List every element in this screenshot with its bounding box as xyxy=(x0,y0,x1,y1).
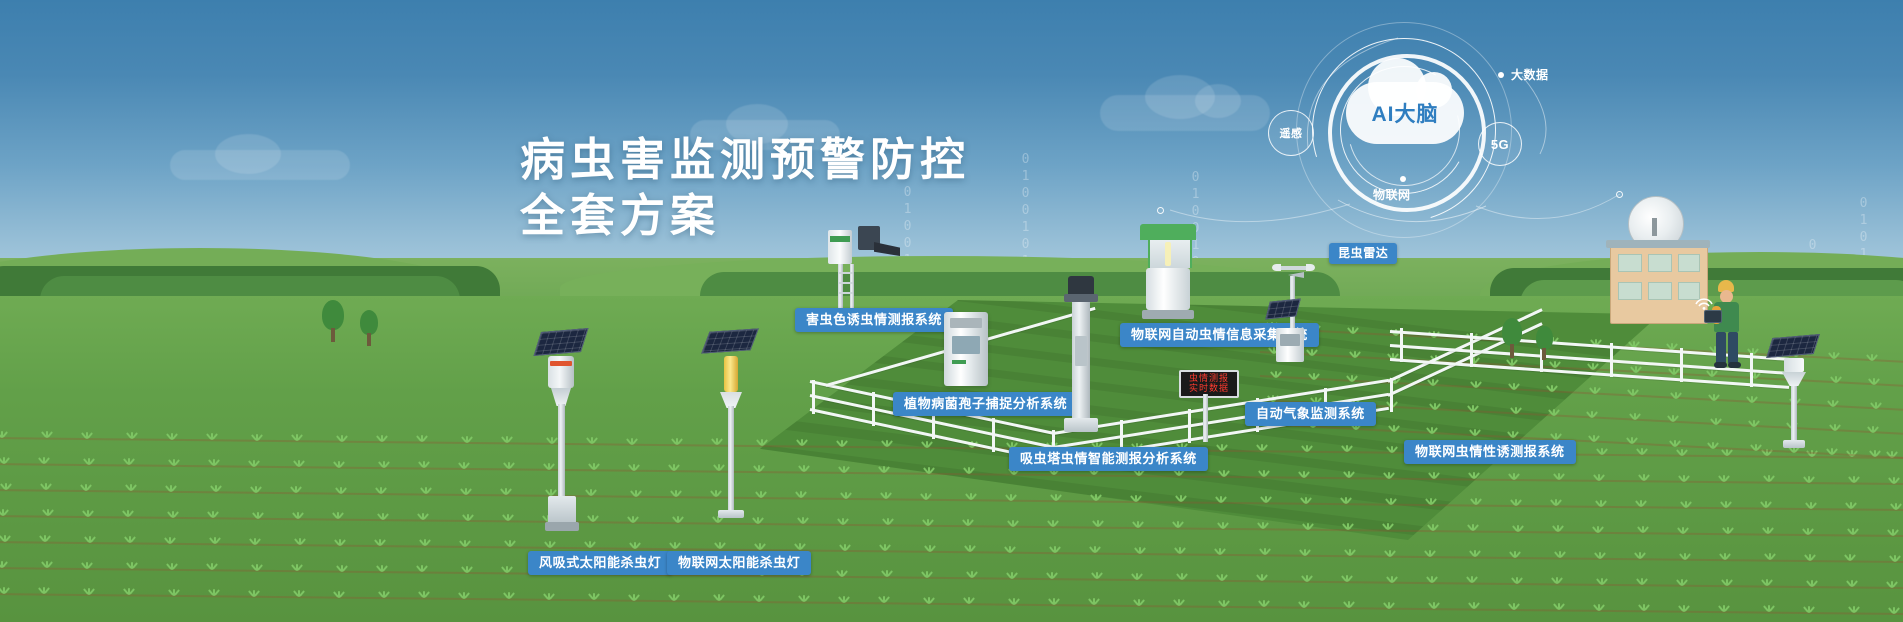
crop-plant xyxy=(0,456,9,465)
pheromone-trap-funnel xyxy=(1782,372,1806,386)
lamp-pole xyxy=(728,406,734,514)
ai-node-remote-sensing[interactable]: 遥感 xyxy=(1268,110,1314,156)
crop-plant xyxy=(1872,401,1881,410)
crop-plant xyxy=(1343,574,1352,583)
ladder-rung xyxy=(839,282,853,284)
crop-plant xyxy=(1762,500,1771,509)
crop-plant xyxy=(250,589,259,598)
crop-plant xyxy=(796,542,805,551)
crop-plant xyxy=(1832,375,1841,384)
crop-plant xyxy=(1512,406,1521,415)
crop-plant xyxy=(673,437,682,446)
crop-plant xyxy=(1,534,10,543)
crop-plant xyxy=(1344,522,1353,531)
pheromone-trap-base xyxy=(1783,440,1805,448)
solar-panel xyxy=(701,328,759,353)
crop-plant xyxy=(1216,547,1225,556)
crop-plant xyxy=(1300,600,1309,609)
collector-lamp-tube xyxy=(1165,242,1171,266)
crop-plant xyxy=(1764,526,1773,535)
crop-plant xyxy=(1219,521,1228,530)
crop-plant xyxy=(1550,408,1559,417)
crop-plant xyxy=(41,534,50,543)
crop-plant xyxy=(208,562,217,571)
crop-plant xyxy=(378,434,387,443)
crop-plant xyxy=(1590,434,1599,443)
crop-plant xyxy=(463,565,472,574)
crop-plant xyxy=(379,512,388,521)
anemometer-cup-right xyxy=(1306,264,1315,271)
crop-plant xyxy=(1304,522,1313,531)
crop-plant xyxy=(212,484,221,493)
cloud-decoration xyxy=(215,134,281,174)
crop-plant xyxy=(169,510,178,519)
crop-plant xyxy=(83,431,92,440)
crop-plant xyxy=(253,563,262,572)
crop-plant xyxy=(630,463,639,472)
crop-plant xyxy=(1681,552,1690,561)
crop-plant xyxy=(1262,495,1271,504)
crop-plant xyxy=(1850,605,1859,614)
crop-plant xyxy=(1637,499,1646,508)
solar-panel xyxy=(1265,298,1301,319)
crop-plant xyxy=(1870,377,1879,386)
crop-plant xyxy=(1846,553,1855,562)
crop-plant xyxy=(672,489,681,498)
farmer-leg-right xyxy=(1728,332,1738,364)
crop-plant xyxy=(1712,417,1721,426)
crop-plant xyxy=(338,434,347,443)
building-window xyxy=(1618,254,1642,272)
crop-plant xyxy=(1849,527,1858,536)
crop-plant xyxy=(1092,493,1101,502)
crop-plant xyxy=(377,486,386,495)
crop-plant xyxy=(1388,575,1397,584)
crop-plant xyxy=(1220,599,1229,608)
crop-plant xyxy=(674,515,683,524)
farmer-shoe-right xyxy=(1728,362,1741,368)
crop-plant xyxy=(505,461,514,470)
crop-plant xyxy=(1831,423,1840,432)
crop-plant xyxy=(925,596,934,605)
spore-cabinet-screen xyxy=(952,336,980,354)
ai-brain-label: AI大脑 xyxy=(1346,98,1464,128)
lamp-pole xyxy=(558,404,565,508)
crop-plant xyxy=(210,588,219,597)
crop-plant xyxy=(590,592,599,601)
crop-plant xyxy=(208,432,217,441)
crop-plant xyxy=(0,430,7,439)
crop-plant xyxy=(502,487,511,496)
wifi-icon xyxy=(1694,294,1714,310)
crop-plant xyxy=(1891,554,1900,563)
crop-plant xyxy=(1007,493,1016,502)
crop-plant xyxy=(1091,545,1100,554)
crop-plant xyxy=(923,570,932,579)
tree xyxy=(1502,318,1522,358)
crop-plant xyxy=(1721,552,1730,561)
crop-plant xyxy=(338,564,347,573)
led-line-2: 实时数据 xyxy=(1189,384,1229,394)
lamp-indicator xyxy=(550,361,572,366)
crop-plant xyxy=(1555,602,1564,611)
crop-plant xyxy=(376,538,385,547)
crop-plant xyxy=(798,438,807,447)
crop-plant xyxy=(1765,604,1774,613)
device-label-iot-pheromone-lure-forecast[interactable]: 物联网虫情性诱测报系统 xyxy=(1404,440,1576,464)
building-window xyxy=(1618,282,1642,300)
crop-plant xyxy=(422,486,431,495)
crop-plant xyxy=(1752,443,1761,452)
weather-cabinet-grill xyxy=(1280,334,1300,346)
device-color-lure-pest-forecast[interactable] xyxy=(820,222,910,312)
crop-plant xyxy=(85,457,94,466)
radar-dish-feed xyxy=(1652,218,1657,236)
collector-base xyxy=(1142,310,1194,319)
crop-plant xyxy=(0,586,9,595)
crop-plant xyxy=(461,539,470,548)
crop-plant xyxy=(292,485,301,494)
crop-plant xyxy=(1472,497,1481,506)
spore-cabinet-logo xyxy=(952,360,966,364)
crop-plant xyxy=(800,594,809,603)
suction-tower-access-panel xyxy=(1075,336,1087,366)
crop-plant xyxy=(1470,601,1479,610)
crop-plant xyxy=(1345,600,1354,609)
crop-plant xyxy=(168,562,177,571)
device-label-insect-radar[interactable]: 昆虫雷达 xyxy=(1329,243,1397,264)
crop-plant xyxy=(210,458,219,467)
device-suction-tower-pest-forecast[interactable] xyxy=(1058,276,1104,452)
crop-plant xyxy=(128,561,137,570)
crop-plant xyxy=(1132,494,1141,503)
crop-plant xyxy=(418,564,427,573)
crop-plant xyxy=(43,560,52,569)
crop-plant xyxy=(1301,548,1310,557)
crop-plant xyxy=(1302,496,1311,505)
crop-plant xyxy=(1709,441,1718,450)
infographic-banner: 010010010 0100101101 01001011010 0101101… xyxy=(0,0,1903,622)
crop-plant xyxy=(1763,578,1772,587)
led-line-1: 虫情测报 xyxy=(1189,374,1229,384)
ai-node-iot-dot xyxy=(1400,176,1406,182)
crop-plant xyxy=(251,537,260,546)
crop-plant xyxy=(1889,528,1898,537)
crop-plant xyxy=(545,592,554,601)
crop-plant xyxy=(254,511,263,520)
device-label-color-lure-pest-forecast[interactable]: 害虫色诱虫情测报系统 xyxy=(795,308,953,332)
crop-plant xyxy=(1385,601,1394,610)
crop-plant xyxy=(420,460,429,469)
soil-row xyxy=(0,567,1903,589)
ai-arc-endpoint-left xyxy=(1157,207,1164,214)
crop-plant xyxy=(335,590,344,599)
crop-plant xyxy=(1261,547,1270,556)
crop-plant xyxy=(1048,571,1057,580)
crop-plant xyxy=(1133,572,1142,581)
crop-plant xyxy=(841,543,850,552)
crop-plant xyxy=(965,596,974,605)
device-iot-auto-pest-info-collection[interactable] xyxy=(1138,224,1208,324)
crop-plant xyxy=(82,483,91,492)
ladder-rung xyxy=(839,272,853,274)
crop-plant xyxy=(1512,498,1521,507)
crop-plant xyxy=(1009,519,1018,528)
crop-plant xyxy=(1682,500,1691,509)
crop-plant xyxy=(670,593,679,602)
crop-plant xyxy=(460,591,469,600)
crop-plant xyxy=(1387,497,1396,506)
crop-plant xyxy=(293,563,302,572)
solar-panel xyxy=(533,328,588,356)
crop-plant xyxy=(1554,524,1563,533)
crop-plant xyxy=(1217,495,1226,504)
mounting-pole-secondary xyxy=(850,264,854,310)
crop-plant xyxy=(0,560,7,569)
crop-plant xyxy=(1426,549,1435,558)
crop-plant xyxy=(506,539,515,548)
crop-plant xyxy=(2,482,11,491)
solar-panel xyxy=(1766,334,1820,358)
crop-plant xyxy=(334,511,343,520)
crop-plant xyxy=(1513,576,1522,585)
crop-plant xyxy=(1848,579,1857,588)
ai-node-bigdata-dot xyxy=(1498,72,1504,78)
crop-plant xyxy=(168,432,177,441)
building-window xyxy=(1648,282,1672,300)
crop-plant xyxy=(1258,573,1267,582)
crop-plant xyxy=(1723,578,1732,587)
crop-plant xyxy=(209,510,218,519)
crop-plant xyxy=(1720,604,1729,613)
crop-plant xyxy=(1471,549,1480,558)
crop-plant xyxy=(755,594,764,603)
crop-plant xyxy=(44,508,53,517)
device-auto-weather-monitor[interactable] xyxy=(1262,266,1326,376)
crop-plant xyxy=(1679,526,1688,535)
crop-plant xyxy=(799,516,808,525)
ladder-rung xyxy=(839,292,853,294)
crop-plant xyxy=(1804,527,1813,536)
crop-plant xyxy=(170,588,179,597)
crop-plant xyxy=(463,435,472,444)
farmer-with-tablet xyxy=(1700,280,1756,368)
pheromone-trap-pole xyxy=(1791,386,1797,442)
crop-plant xyxy=(505,591,514,600)
crop-plant xyxy=(1136,546,1145,555)
crop-plant xyxy=(335,460,344,469)
device-label-wind-suction-solar-insect-lamp[interactable]: 风吸式太阳能杀虫灯 xyxy=(528,551,672,575)
crop-plant xyxy=(1303,574,1312,583)
suction-tower-base xyxy=(1064,418,1098,432)
farmer-shoe-left xyxy=(1714,362,1727,368)
crop-plant xyxy=(1806,553,1815,562)
lamp-collector-box xyxy=(548,496,576,524)
ai-node-iot[interactable]: 物联网 xyxy=(1373,186,1411,203)
crop-plant xyxy=(1094,519,1103,528)
crop-plant xyxy=(1829,399,1838,408)
crop-plant xyxy=(167,484,176,493)
device-label-auto-weather-monitor[interactable]: 自动气象监测系统 xyxy=(1245,402,1376,426)
collector-canopy xyxy=(1140,224,1196,240)
crop-plant xyxy=(1724,526,1733,535)
crop-plant xyxy=(1174,520,1183,529)
crop-plant xyxy=(419,512,428,521)
crop-plant xyxy=(840,595,849,604)
crop-plant xyxy=(1511,550,1520,559)
lamp-tube-housing xyxy=(724,356,738,392)
crop-plant xyxy=(630,593,639,602)
crop-plant xyxy=(1135,598,1144,607)
crop-plant xyxy=(1638,577,1647,586)
device-label-plant-spore-capture-analysis[interactable]: 植物病菌孢子捕捉分析系统 xyxy=(893,392,1078,416)
crop-plant xyxy=(503,565,512,574)
device-label-suction-tower-pest-forecast[interactable]: 吸虫塔虫情智能测报分析系统 xyxy=(1009,447,1208,471)
crop-plant xyxy=(1766,552,1775,561)
crop-plant xyxy=(1669,414,1678,423)
crop-plant xyxy=(253,433,262,442)
led-display-board[interactable]: 虫情测报 实时数据 xyxy=(1179,370,1239,398)
soil-row xyxy=(0,541,1903,563)
crop-plant xyxy=(1510,602,1519,611)
soil-row xyxy=(0,593,1903,615)
crop-plant xyxy=(966,544,975,553)
device-label-iot-solar-insect-lamp[interactable]: 物联网太阳能杀虫灯 xyxy=(667,551,811,575)
lamp-base xyxy=(718,510,744,518)
crop-plant xyxy=(295,589,304,598)
hero-title-line-1: 病虫害监测预警防控 xyxy=(520,132,970,188)
crop-plant xyxy=(380,460,389,469)
crop-plant xyxy=(1678,578,1687,587)
crop-plant xyxy=(1828,447,1837,456)
anemometer-cup-left xyxy=(1272,264,1281,271)
crop-plant xyxy=(86,535,95,544)
crop-plant xyxy=(1342,496,1351,505)
tree xyxy=(360,310,378,346)
crop-plant xyxy=(632,489,641,498)
crop-plant xyxy=(882,491,891,500)
crop-plant xyxy=(1218,573,1227,582)
crop-plant xyxy=(1890,606,1899,615)
crop-plant xyxy=(800,464,809,473)
crop-plant xyxy=(1680,604,1689,613)
crop-plant xyxy=(1052,493,1061,502)
device-plant-spore-capture-analysis[interactable] xyxy=(944,312,1004,394)
crop-plant xyxy=(1553,576,1562,585)
suction-tower-head xyxy=(1068,276,1094,296)
crop-plant xyxy=(0,508,8,517)
crop-plant xyxy=(968,570,977,579)
crop-plant xyxy=(1631,412,1640,421)
crop-plant xyxy=(166,536,175,545)
crop-plant xyxy=(1175,598,1184,607)
device-wind-suction-solar-insect-lamp[interactable] xyxy=(532,328,592,543)
lure-trap-green-stripe xyxy=(830,236,850,242)
crop-plant xyxy=(1871,449,1880,458)
crop-plant xyxy=(1628,436,1637,445)
crop-plant xyxy=(418,434,427,443)
crop-plant xyxy=(1093,571,1102,580)
crop-plant xyxy=(880,595,889,604)
crop-plant xyxy=(1429,523,1438,532)
crop-plant xyxy=(671,541,680,550)
crop-plant xyxy=(964,518,973,527)
crop-plant xyxy=(883,569,892,578)
crop-plant xyxy=(1830,351,1839,360)
crop-plant xyxy=(421,538,430,547)
crop-plant xyxy=(170,458,179,467)
crop-plant xyxy=(922,492,931,501)
crop-plant xyxy=(1552,498,1561,507)
crop-plant xyxy=(296,537,305,546)
crop-plant xyxy=(1594,525,1603,534)
pheromone-trap-head xyxy=(1784,358,1804,372)
crop-plant xyxy=(1588,410,1597,419)
led-board-pole xyxy=(1203,394,1208,442)
ai-node-5g[interactable]: 5G xyxy=(1478,122,1522,166)
crop-plant xyxy=(40,586,49,595)
crop-plant xyxy=(1386,549,1395,558)
crop-plant xyxy=(839,517,848,526)
crop-plant xyxy=(1468,575,1477,584)
crop-plant xyxy=(1750,419,1759,428)
crop-plant xyxy=(1595,603,1604,612)
tree xyxy=(1536,326,1553,360)
crop-plant xyxy=(1805,605,1814,614)
crop-plant xyxy=(1596,551,1605,560)
crop-plant xyxy=(252,485,261,494)
crop-plant xyxy=(1090,597,1099,606)
crop-plant xyxy=(670,463,679,472)
ai-node-5g-label: 5G xyxy=(1491,137,1509,152)
soil-row xyxy=(0,489,1903,511)
ai-node-bigdata[interactable]: 大数据 xyxy=(1511,66,1549,83)
crop-plant xyxy=(1636,551,1645,560)
crop-plant xyxy=(838,569,847,578)
trap-hood xyxy=(874,242,900,256)
ai-node-iot-label: 物联网 xyxy=(1373,188,1411,202)
farmer-leg-left xyxy=(1716,332,1726,364)
crop-plant xyxy=(503,435,512,444)
crop-plant xyxy=(295,459,304,468)
crop-plant xyxy=(337,486,346,495)
crop-plant xyxy=(1177,494,1186,503)
tree xyxy=(322,300,344,342)
crop-plant xyxy=(1748,395,1757,404)
crop-plant xyxy=(250,459,259,468)
crop-plant xyxy=(1346,548,1355,557)
device-iot-pheromone-lure-forecast[interactable] xyxy=(1768,336,1824,456)
crop-plant xyxy=(926,544,935,553)
crop-plant xyxy=(504,513,513,522)
crop-plant xyxy=(1807,501,1816,510)
crop-plant xyxy=(128,431,137,440)
crop-plant xyxy=(1430,601,1439,610)
building-roof xyxy=(1606,240,1710,248)
crop-plant xyxy=(1260,599,1269,608)
device-iot-solar-insect-lamp[interactable] xyxy=(702,330,762,542)
crop-plant xyxy=(1051,545,1060,554)
crop-plant xyxy=(1597,499,1606,508)
crop-plant xyxy=(1178,572,1187,581)
crop-plant xyxy=(85,587,94,596)
crop-plant xyxy=(1847,501,1856,510)
crop-plant xyxy=(881,543,890,552)
crop-plant xyxy=(336,538,345,547)
collector-body xyxy=(1146,268,1190,310)
crop-plant xyxy=(294,511,303,520)
crop-plant xyxy=(797,490,806,499)
